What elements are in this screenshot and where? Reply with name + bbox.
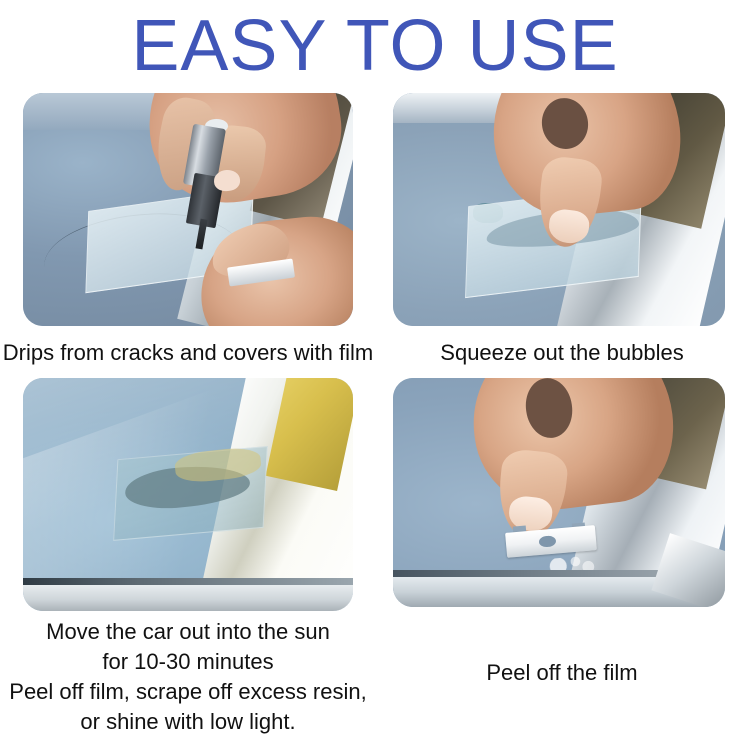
- page-title: EASY TO USE: [0, 8, 750, 84]
- car-hood: [23, 585, 353, 611]
- step-2-caption: Squeeze out the bubbles: [374, 338, 750, 368]
- step-2-image: [393, 93, 725, 326]
- step-4-caption: Peel off the film: [374, 658, 750, 688]
- step-3-caption-line-2: for 10-30 minutes: [0, 647, 376, 677]
- step-4-scene: [393, 378, 725, 607]
- step-2-scene: [393, 93, 725, 326]
- step-1-image: [23, 93, 353, 326]
- step-1-caption: Drips from cracks and covers with film: [0, 338, 376, 368]
- step-4-image: [393, 378, 725, 607]
- hood-edge-line: [23, 578, 353, 585]
- step-3-scene: [23, 378, 353, 611]
- step-3-caption-line-4: or shine with low light.: [0, 707, 376, 737]
- step-3-caption: Move the car out into the sun for 10-30 …: [0, 617, 376, 737]
- step-3-caption-line-3: Peel off film, scrape off excess resin,: [0, 677, 376, 707]
- step-3-caption-line-1: Move the car out into the sun: [0, 617, 376, 647]
- instruction-infographic: EASY TO USE: [0, 0, 750, 750]
- step-1-scene: [23, 93, 353, 326]
- step-3-image: [23, 378, 353, 611]
